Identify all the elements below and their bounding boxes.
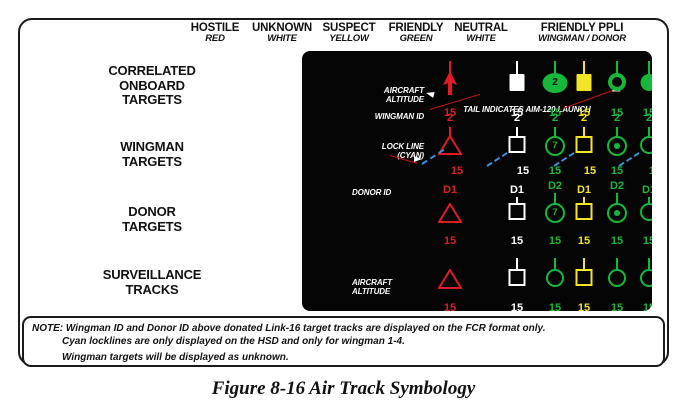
row-label-text: DONOR TARGETS [122, 204, 182, 234]
row-label-donor-targets: DONOR TARGETS [12, 205, 292, 234]
symbol-cell-correlated-ppli-wingman-x: 2 15 [525, 61, 585, 119]
ppli-wingman-filled-oval-icon: 2 [543, 73, 568, 93]
unknown-hollow-square-icon [509, 136, 526, 153]
annotation-wingman-id: WINGMAN ID [342, 113, 424, 122]
symbol-cell-donor-ppli-wingman: D2 7 15 [525, 189, 585, 247]
column-header-sub: WHITE [441, 34, 521, 44]
ppli-inner-id: 2 [552, 78, 558, 88]
air-track-display-panel: AIRCRAFT ALTITUDE WINGMAN ID LOCK LINE (… [302, 51, 652, 311]
symbol-graphic-surveillance-hostile [420, 256, 480, 302]
symbol-cell-wingman-ppli-donor: 2 15 [587, 119, 647, 177]
ppli-donor-hollow-circle-icon [608, 269, 626, 287]
note-line-2: Cyan locklines are only displayed on the… [32, 335, 655, 348]
annotation-aircraft-altitude-bottom: AIRCRAFT ALTITUDE [352, 279, 422, 297]
row-label-text: CORRELATED ONBOARD TARGETS [108, 63, 195, 107]
ppli-center-dot [614, 143, 620, 149]
ppli-donor-circle-dot-icon [607, 136, 627, 156]
symbol-cell-surveillance-hostile: 15 [420, 256, 480, 311]
symbol-cell-correlated-hostile: 15 [420, 61, 480, 119]
symbol-cell-surveillance-ppli-donor: 15 [587, 256, 647, 311]
note-box: NOTE: Wingman ID and Donor ID above dona… [22, 316, 665, 367]
ppli-donor-circle-dot-icon [607, 203, 627, 223]
annotation-lock-line: LOCK LINE (CYAN) [346, 143, 424, 161]
symbol-graphic-ppli-donor-correlated [587, 61, 647, 107]
symbol-graphic-ppli-wingman-surveillancerow [525, 256, 585, 302]
symbol-graphic-ppli-donor-surveillancerow [587, 256, 647, 302]
ppli-inner-id: 7 [552, 208, 557, 218]
note-line-1: NOTE: Wingman ID and Donor ID above dona… [32, 322, 655, 335]
row-label-text: SURVEILLANCE TRACKS [103, 267, 201, 297]
ppli-wingman-circle-number-icon: 7 [545, 136, 565, 156]
ppli-donor-donut-icon [608, 73, 626, 91]
row-label-correlated-onboard-targets: CORRELATED ONBOARD TARGETS [12, 64, 292, 108]
symbol-altitude: 15 [525, 236, 585, 247]
hostile-hollow-triangle-icon [438, 203, 462, 223]
unknown-hollow-square-icon [509, 269, 526, 286]
symbol-cell-donor-ppli-donor: D2 15 [587, 189, 647, 247]
symbol-altitude: 15 [525, 303, 585, 311]
annotation-aircraft-altitude-top: AIRCRAFT ALTITUDE [354, 87, 424, 105]
ppli-wingman-circle-number-icon: 7 [545, 203, 565, 223]
symbol-graphic-ppli-donor-donorrow [587, 189, 647, 235]
symbol-graphic-ppli-wingman-donorrow: 7 [525, 189, 585, 235]
symbol-altitude: 15 [434, 166, 480, 177]
symbol-graphic-donor-hostile [420, 189, 480, 235]
ppli-center-dot [614, 210, 620, 216]
row-label-wingman-targets: WINGMAN TARGETS [12, 140, 292, 169]
hostile-hollow-triangle-icon [438, 269, 462, 289]
symbol-altitude: 15 [420, 303, 480, 311]
column-header-neutral: NEUTRAL WHITE [441, 22, 521, 44]
symbol-graphic-ppli-donor-wingmanrow [587, 119, 647, 165]
column-header-friendly-ppli: FRIENDLY PPLI WINGMAN / DONOR [512, 22, 652, 44]
symbol-cell-wingman-ppli-wingman: 2 7 15 [525, 119, 585, 177]
symbol-cell-wingman-hostile: 2 15 [420, 119, 480, 177]
row-label-surveillance-tracks: SURVEILLANCE TRACKS [12, 268, 292, 297]
note-line-3: Wingman targets will be displayed as unk… [32, 348, 655, 364]
symbol-altitude: 15 [587, 303, 647, 311]
row-label-text: WINGMAN TARGETS [120, 139, 184, 169]
symbol-stem [516, 61, 518, 75]
hostile-filled-arrow-icon [439, 71, 461, 95]
ppli-wingman-hollow-circle-icon [546, 269, 564, 287]
ppli-inner-id: 7 [552, 141, 557, 151]
symbol-altitude: 15 [525, 166, 585, 177]
column-headers: HOSTILE RED UNKNOWN WHITE SUSPECT YELLOW… [0, 22, 687, 52]
symbol-cell-surveillance-ppli-wingman: 15 [525, 256, 585, 311]
column-header-sub: WINGMAN / DONOR [512, 34, 652, 44]
unknown-hollow-square-icon [509, 203, 526, 220]
symbol-altitude: 15 [420, 236, 480, 247]
symbol-cell-correlated-ppli-donor: 15 [587, 61, 647, 119]
symbol-cell-donor-hostile: D1 15 [420, 189, 480, 247]
symbol-graphic-correlated-hostile [420, 61, 480, 107]
symbol-altitude: 15 [587, 166, 647, 177]
figure-caption: Figure 8-16 Air Track Symbology [0, 378, 687, 400]
symbol-graphic-ppli-wingman-wingmanrow: 7 [525, 119, 585, 165]
symbol-graphic-ppli-wingman-correlated: 2 [525, 61, 585, 107]
symbol-altitude: 15 [587, 236, 647, 247]
